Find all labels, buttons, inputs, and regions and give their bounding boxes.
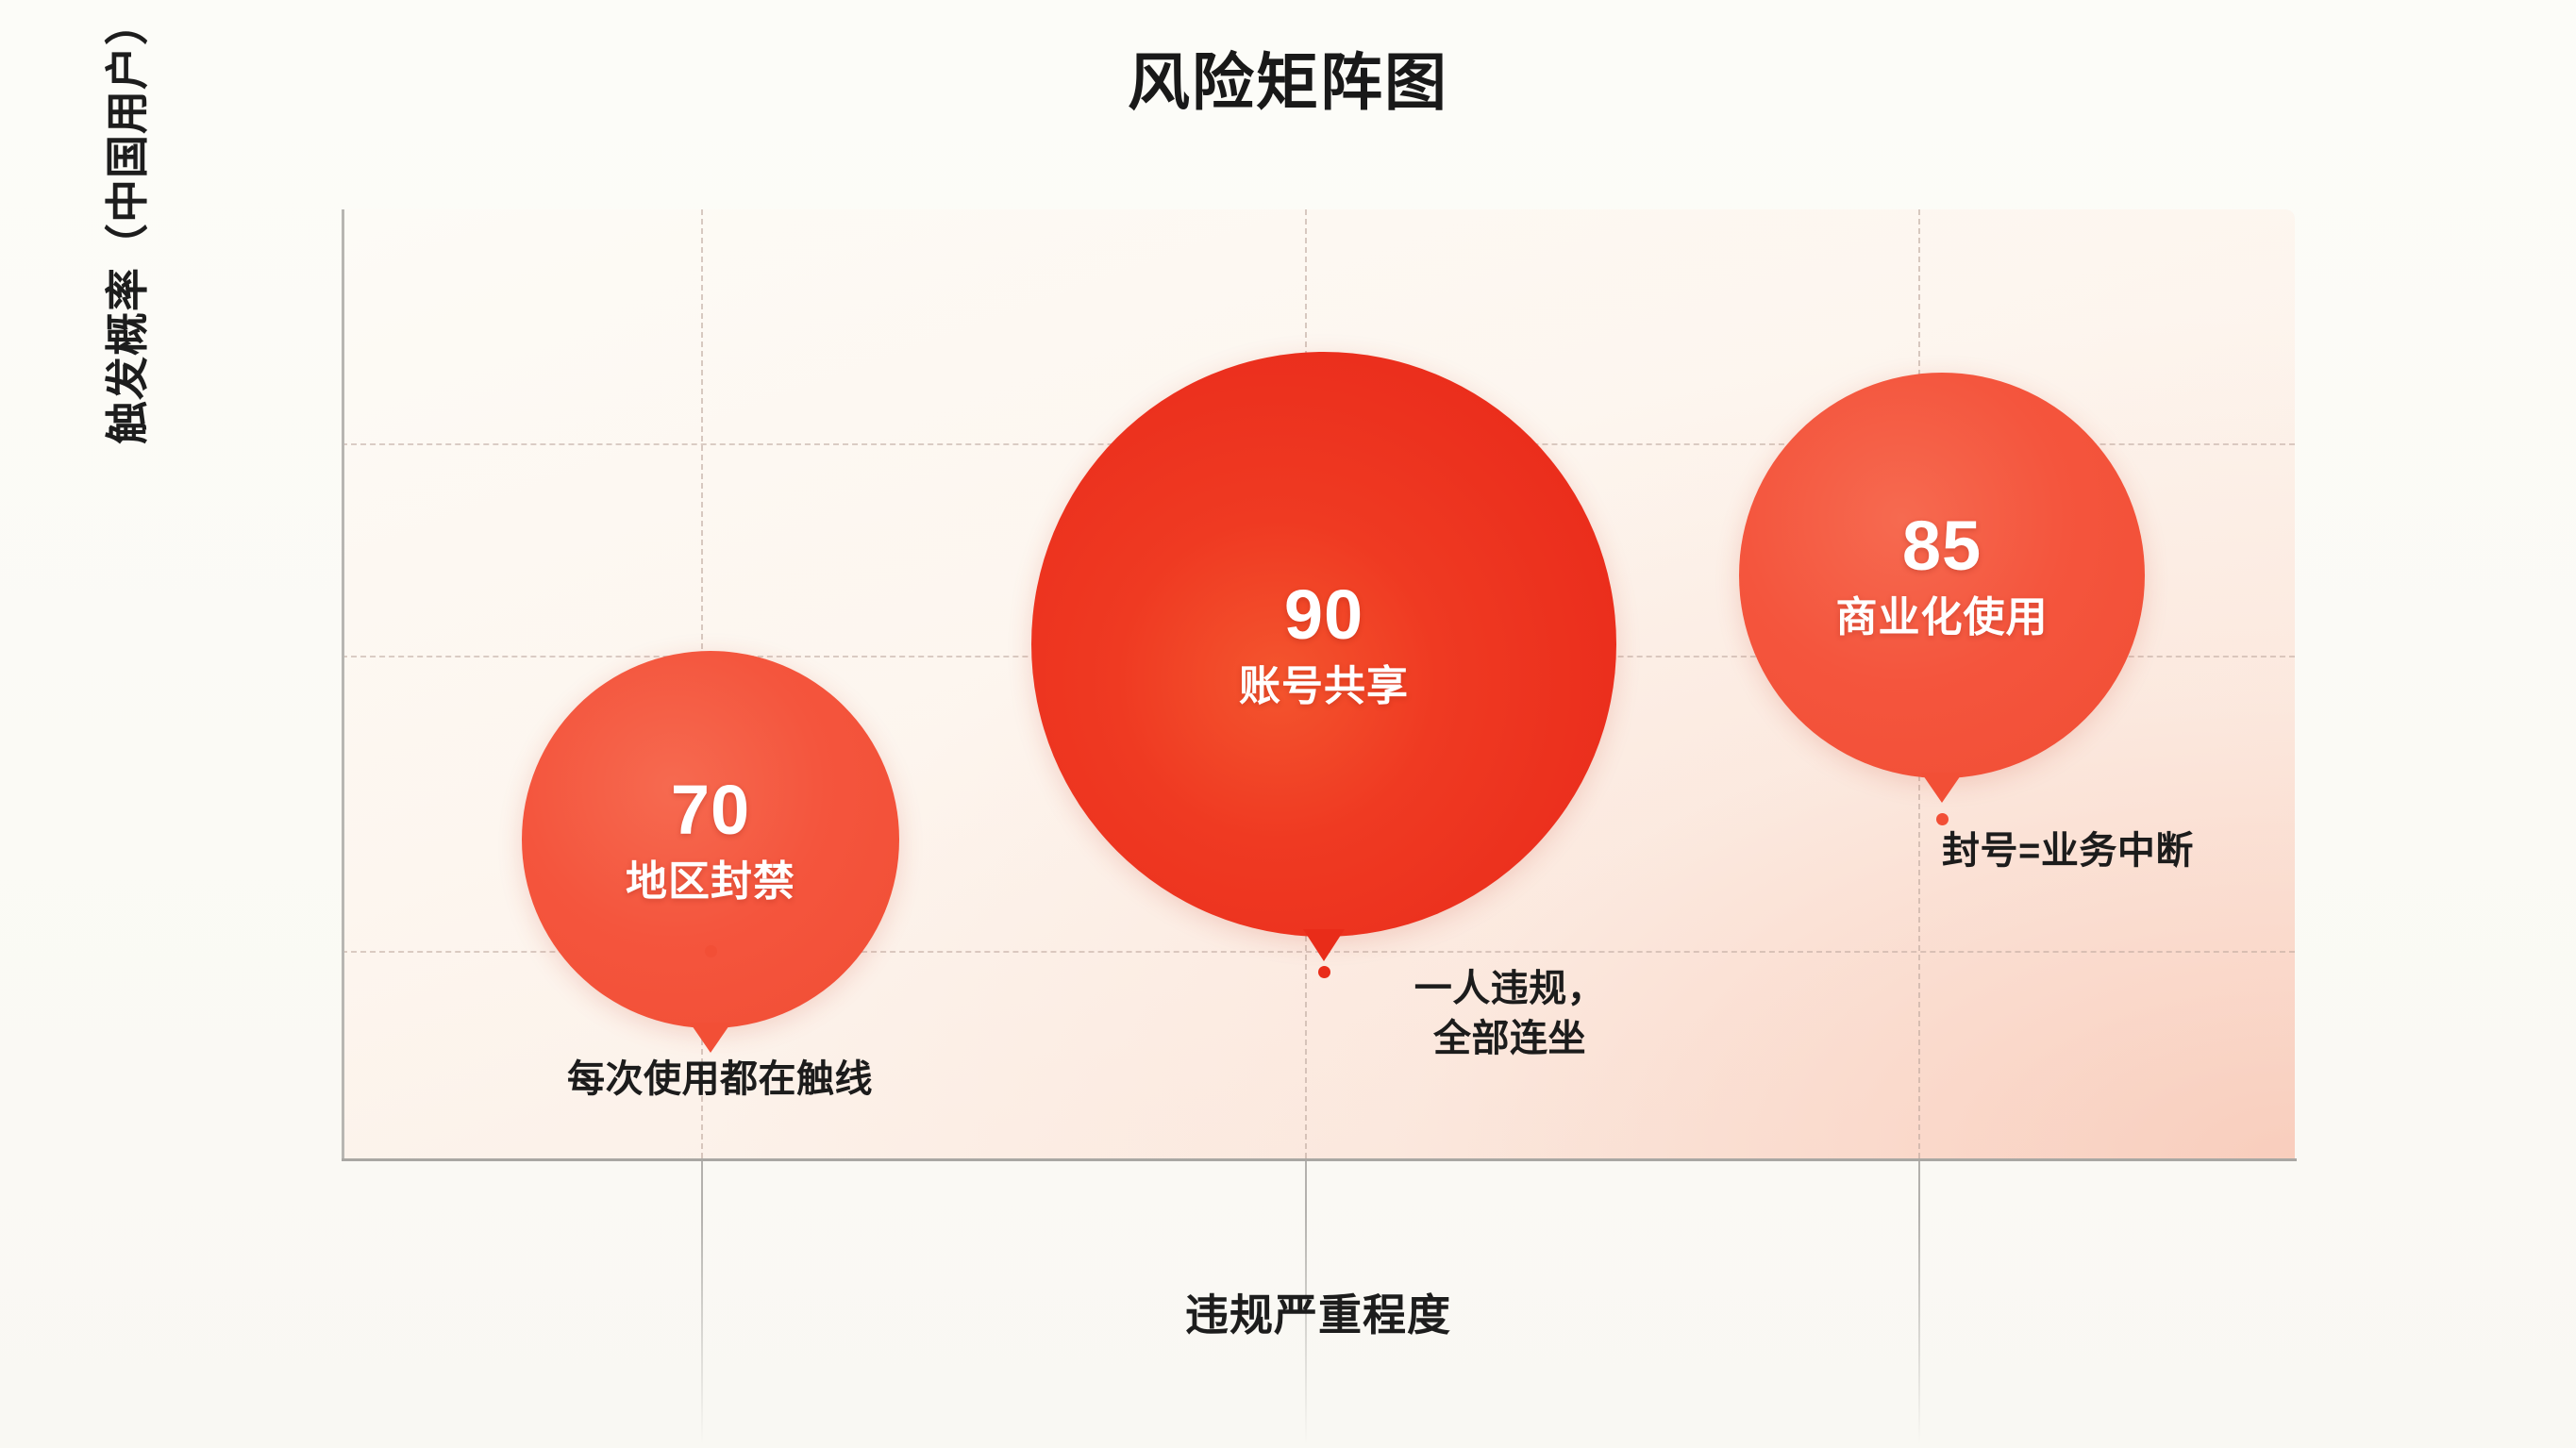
- bubble-tail-3: [1921, 773, 1963, 803]
- bubble-value-1: 70: [671, 774, 750, 845]
- bubble-label-3: 商业化使用: [1836, 595, 2049, 641]
- page-title: 风险矩阵图: [0, 45, 2576, 120]
- callout-3: 封号=业务中断: [1942, 826, 2338, 876]
- bubble-point-2[interactable]: 90 账号共享: [1031, 352, 1616, 937]
- bubble-value-2: 90: [1284, 579, 1363, 650]
- bubble-anchor-dot-2: [1318, 966, 1330, 978]
- bubble-anchor-dot-1: [705, 945, 717, 957]
- x-axis-title: 违规严重程度: [342, 1281, 2295, 1343]
- x-axis-line: [342, 1158, 2297, 1161]
- bubble-label-2: 账号共享: [1239, 664, 1409, 709]
- callout-2-line-2: 全部连坐: [1433, 1018, 1586, 1059]
- callout-1: 每次使用都在触线: [522, 1055, 918, 1105]
- bubble-anchor-dot-3: [1936, 813, 1949, 825]
- chart-canvas: 风险矩阵图 70 地区封禁 每次使用都在触线 90 账号共享 一人违规，全部连坐…: [0, 0, 2576, 1448]
- bubble-point-1[interactable]: 70 地区封禁: [522, 651, 899, 1028]
- bubble-tail-1: [690, 1023, 731, 1053]
- callout-2: 一人违规，全部连坐: [1340, 964, 1680, 1064]
- bubble-label-1: 地区封禁: [626, 859, 795, 905]
- callout-2-line-1: 一人违规，: [1414, 968, 1606, 1009]
- bubble-value-3: 85: [1902, 510, 1982, 581]
- bubble-point-3[interactable]: 85 商业化使用: [1739, 373, 2145, 778]
- y-axis-line: [342, 209, 344, 1160]
- y-axis-title: 触发概率（中国用户）: [87, 0, 168, 515]
- bubble-tail-2: [1303, 929, 1345, 961]
